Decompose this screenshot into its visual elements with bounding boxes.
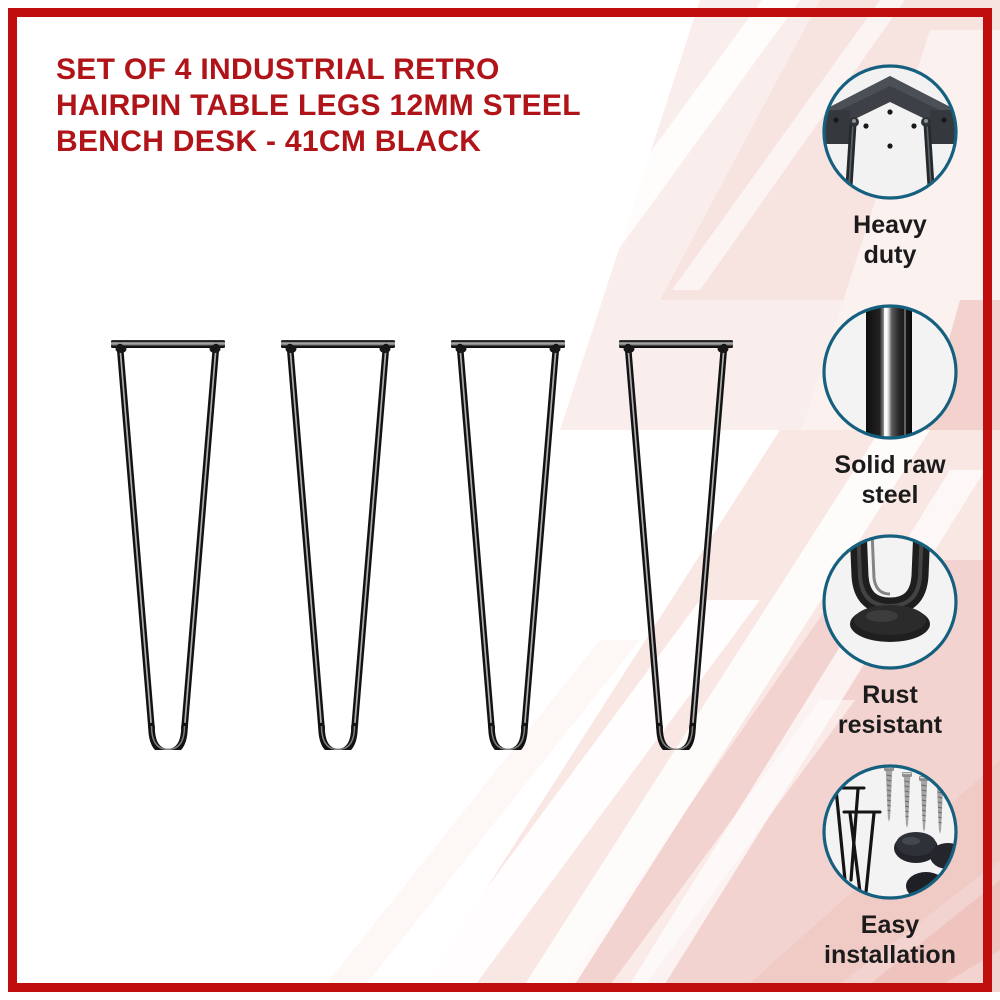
mounting-bracket-icon — [820, 62, 960, 202]
product-title: SET OF 4 INDUSTRIAL RETRO HAIRPIN TABLE … — [56, 52, 716, 160]
screws-and-pads-icon — [820, 762, 960, 902]
feature-label-line: Rust — [790, 680, 990, 710]
feature-list: Heavy duty — [790, 62, 990, 982]
feature-label-rust-resistant: Rust resistant — [790, 680, 990, 740]
feature-label-line: steel — [790, 480, 990, 510]
product-title-line-2: HAIRPIN TABLE LEGS 12MM STEEL — [56, 88, 716, 124]
feature-easy-installation: Easy installation — [790, 762, 990, 970]
product-title-line-3: BENCH DESK - 41CM BLACK — [56, 124, 716, 160]
feature-heavy-duty: Heavy duty — [790, 62, 990, 270]
feature-label-line: Easy — [790, 910, 990, 940]
steel-rod-icon — [820, 302, 960, 442]
feature-rust-resistant: Rust resistant — [790, 532, 990, 740]
feature-label-line: resistant — [790, 710, 990, 740]
feature-label-line: duty — [790, 240, 990, 270]
product-title-line-1: SET OF 4 INDUSTRIAL RETRO — [56, 52, 716, 88]
leg-4 — [619, 340, 733, 750]
feature-label-heavy-duty: Heavy duty — [790, 210, 990, 270]
feature-label-line: Solid raw — [790, 450, 990, 480]
leg-2 — [281, 340, 395, 750]
feature-label-easy-installation: Easy installation — [790, 910, 990, 970]
feature-label-solid-raw-steel: Solid raw steel — [790, 450, 990, 510]
feature-label-line: Heavy — [790, 210, 990, 240]
feature-label-line: installation — [790, 940, 990, 970]
leg-1 — [111, 340, 225, 750]
leg-foot-cap-icon — [820, 532, 960, 672]
leg-3 — [451, 340, 565, 750]
feature-solid-raw-steel: Solid raw steel — [790, 302, 990, 510]
product-image-hairpin-legs — [80, 320, 760, 750]
product-listing-image: SET OF 4 INDUSTRIAL RETRO HAIRPIN TABLE … — [0, 0, 1000, 1000]
